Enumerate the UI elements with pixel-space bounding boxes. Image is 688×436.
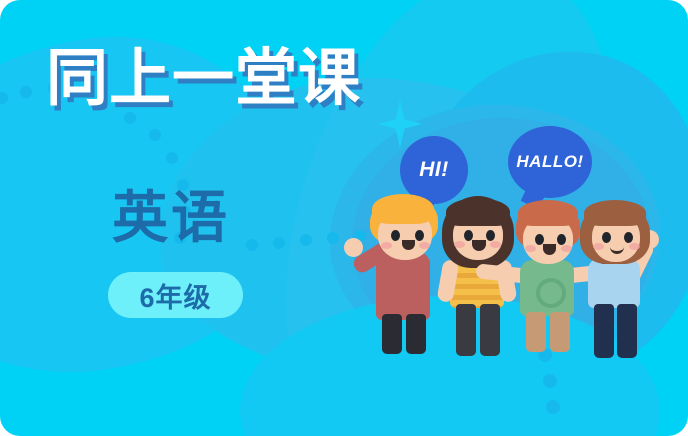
child4-eye-right — [624, 232, 633, 243]
subject-title: 英语 — [112, 190, 230, 246]
decorative-dot — [246, 239, 258, 251]
child3-cheek-right — [561, 245, 572, 252]
child4-body — [588, 258, 640, 308]
child1-hand — [344, 238, 363, 257]
child2-leg-right — [480, 304, 500, 356]
child1-eye-left — [391, 230, 400, 241]
decorative-dot — [166, 152, 178, 164]
child3-leg-left — [526, 312, 546, 352]
grade-badge: 6年级 — [108, 272, 243, 318]
child2-eye-right — [486, 230, 495, 241]
child4-cheek-right — [629, 243, 640, 250]
decorative-dot — [327, 232, 339, 244]
speech-bubble-hi-text: HI! — [419, 158, 449, 182]
grade-badge-label: 6年级 — [139, 276, 211, 315]
child3-leg-right — [550, 312, 570, 352]
child1-cheek-left — [381, 242, 392, 249]
child1-cheek-right — [419, 242, 430, 249]
child1-eye-right — [415, 230, 424, 241]
child3-shirt-logo — [536, 278, 566, 308]
decorative-dot — [273, 237, 285, 249]
child2-cheek-left — [454, 241, 465, 248]
child4-eye-left — [602, 232, 611, 243]
child2-hair-fringe — [446, 198, 510, 226]
page-title: 同上一堂课 — [46, 48, 361, 110]
child3-cheek-left — [525, 245, 536, 252]
child4-cheek-left — [593, 243, 604, 250]
course-banner-card: 同上一堂课 英语 6年级 HI! HALLO! — [0, 0, 688, 436]
child4-hair-fringe — [584, 200, 646, 226]
decorative-dot — [300, 234, 312, 246]
child1-body — [376, 252, 430, 320]
child4-leg-left — [594, 304, 614, 358]
speech-bubble-hallo-text: HALLO! — [516, 152, 583, 172]
child4-leg-right — [617, 304, 637, 358]
speech-bubble-hallo: HALLO! — [508, 126, 592, 198]
children-illustration — [358, 190, 658, 360]
child3-eye-right — [557, 234, 566, 245]
decorative-dot — [124, 112, 136, 124]
decorative-dot — [546, 400, 560, 414]
decorative-dot — [149, 129, 161, 141]
child1-leg-left — [382, 314, 402, 354]
child1-leg-right — [406, 314, 426, 354]
decorative-dot — [20, 86, 32, 98]
child3-hair-fringe — [518, 200, 578, 226]
child1-hair-fringe — [372, 194, 434, 224]
child2-cheek-right — [490, 241, 501, 248]
child2-leg-left — [456, 304, 476, 356]
decorative-dot — [543, 374, 557, 388]
